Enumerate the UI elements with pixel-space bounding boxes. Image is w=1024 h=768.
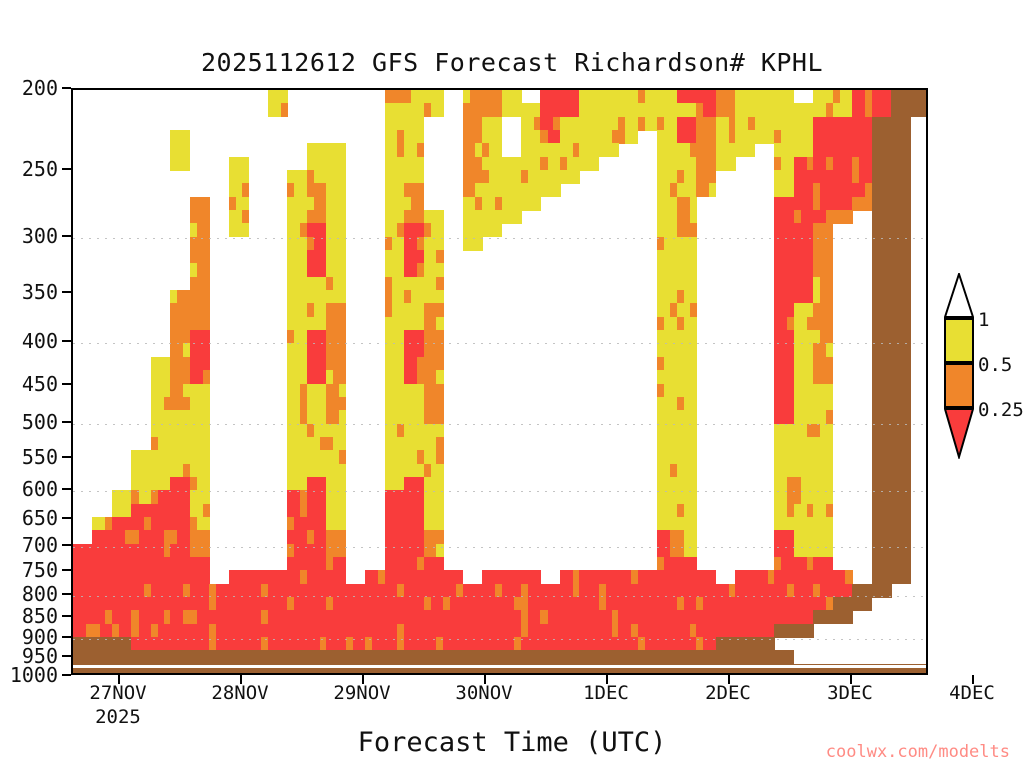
x-axis-tick-mark <box>362 675 364 684</box>
x-axis-tick-label: 1DEC <box>583 682 629 704</box>
y-axis-tick-label: 400 <box>22 329 58 353</box>
x-axis-tick-mark <box>118 675 120 684</box>
y-axis-tick-mark <box>62 655 71 657</box>
y-axis-tick-label: 750 <box>22 558 58 582</box>
colorbar-segment[interactable] <box>944 363 974 408</box>
y-axis-tick-label: 200 <box>22 76 58 100</box>
y-axis-tick-mark <box>62 235 71 237</box>
colorbar-tick-label: 0.25 <box>978 399 1024 421</box>
x-axis-tick-mark <box>484 675 486 684</box>
y-axis-tick-label: 250 <box>22 157 58 181</box>
y-axis-tick-label: 550 <box>22 445 58 469</box>
y-axis-tick-mark <box>62 674 71 676</box>
y-axis-tick-mark <box>62 291 71 293</box>
y-axis-tick-mark <box>62 87 71 89</box>
x-axis-tick-mark <box>972 675 974 684</box>
y-axis-tick-mark <box>62 615 71 617</box>
x-axis-tick-mark <box>850 675 852 684</box>
y-axis-tick-mark <box>62 168 71 170</box>
x-axis-tick-label: 27NOV <box>89 682 146 704</box>
y-axis-tick-mark <box>62 383 71 385</box>
chart-title: 2025112612 GFS Forecast Richardson# KPHL <box>0 48 1024 77</box>
terrain-band <box>73 88 926 673</box>
y-axis-tick-mark <box>62 456 71 458</box>
x-axis-tick-mark <box>728 675 730 684</box>
surface-line <box>73 665 926 668</box>
y-axis-tick-label: 500 <box>22 410 58 434</box>
y-axis-tick-mark <box>62 488 71 490</box>
y-axis-tick-mark <box>62 517 71 519</box>
y-axis-tick-mark <box>62 544 71 546</box>
y-axis-tick-label: 650 <box>22 506 58 530</box>
y-axis-tick-label: 600 <box>22 477 58 501</box>
colorbar-extend-low <box>944 408 974 459</box>
x-axis-tick-label: 3DEC <box>827 682 873 704</box>
credit-watermark: coolwx.com/modelts <box>826 742 1010 762</box>
colorbar-tick-label: 1 <box>978 309 989 331</box>
x-axis-tick-label: 30NOV <box>455 682 512 704</box>
y-axis-tick-mark <box>62 421 71 423</box>
colorbar-tick-label: 0.5 <box>978 354 1012 376</box>
chart-canvas: 2025112612 GFS Forecast Richardson# KPHL… <box>0 0 1024 768</box>
y-axis-tick-label: 700 <box>22 533 58 557</box>
x-axis-tick-label: 29NOV <box>333 682 390 704</box>
x-axis-tick-mark <box>606 675 608 684</box>
y-axis-tick-label: 350 <box>22 280 58 304</box>
y-axis-tick-mark <box>62 636 71 638</box>
y-axis-tick-mark <box>62 569 71 571</box>
x-axis-tick-mark <box>240 675 242 684</box>
x-axis-year-label: 2025 <box>95 706 141 728</box>
colorbar-segment[interactable] <box>944 318 974 363</box>
colorbar[interactable] <box>944 318 974 453</box>
x-axis-tick-label: 2DEC <box>705 682 751 704</box>
x-axis-tick-label: 28NOV <box>211 682 268 704</box>
y-axis-tick-label: 300 <box>22 224 58 248</box>
y-axis-tick-label: 450 <box>22 372 58 396</box>
y-axis-tick-mark <box>62 340 71 342</box>
x-axis-tick-label: 4DEC <box>949 682 995 704</box>
plot-area <box>71 88 928 675</box>
colorbar-extend-high-icon <box>944 273 974 318</box>
y-axis-tick-label: 1000 <box>10 663 58 687</box>
y-axis-tick-mark <box>62 593 71 595</box>
y-axis-tick-label: 800 <box>22 582 58 606</box>
